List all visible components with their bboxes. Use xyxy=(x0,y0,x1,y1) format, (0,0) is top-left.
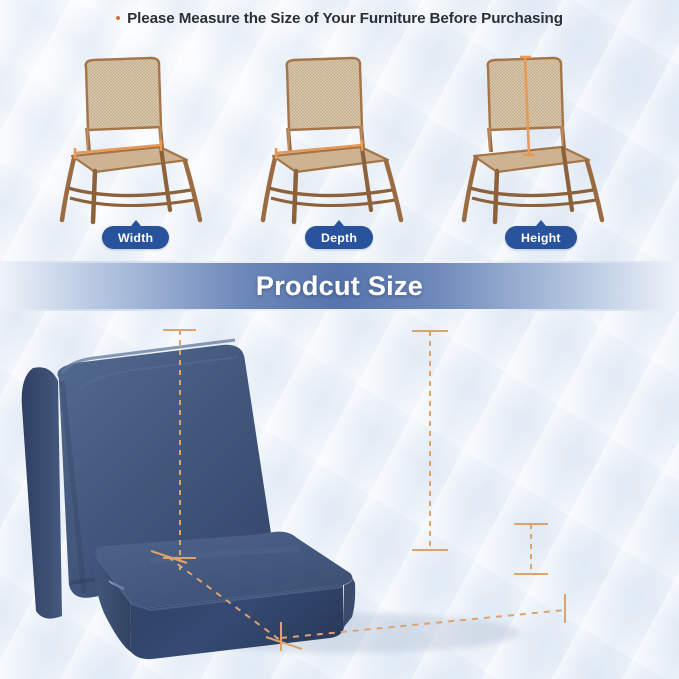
wooden-cane-chair-icon xyxy=(450,52,630,227)
pill-label-text: Depth xyxy=(321,231,357,245)
product-size-section: 27" 21" 6" 24" 24" 6 Inches xyxy=(0,311,679,679)
dimension-line-21 xyxy=(412,331,448,550)
page-title: Prodcut Size xyxy=(256,271,423,302)
pill-label-text: Height xyxy=(521,231,561,245)
label-pill-depth: Depth xyxy=(305,226,373,249)
headline-text: Please Measure the Size of Your Furnitur… xyxy=(127,10,563,27)
banner-top-edge xyxy=(0,261,679,263)
wooden-cane-chair-icon xyxy=(48,52,228,227)
page-headline: Please Measure the Size of Your Furnitur… xyxy=(0,10,679,27)
wooden-cane-chair-icon xyxy=(249,52,429,227)
label-pill-height: Height xyxy=(505,226,577,249)
measure-guide-section: Please Measure the Size of Your Furnitur… xyxy=(0,0,679,258)
chair-illustration-height xyxy=(450,52,630,227)
pointer-triangle-icon xyxy=(131,220,141,226)
pill-label-text: Width xyxy=(118,231,153,245)
section-banner: Prodcut Size xyxy=(0,261,679,311)
cushion-diagram xyxy=(0,311,679,679)
dimension-line-6 xyxy=(514,524,548,574)
label-pill-width: Width xyxy=(102,226,169,249)
chair-illustration-width xyxy=(48,52,228,227)
pointer-triangle-icon xyxy=(536,220,546,226)
dot-bullet-icon xyxy=(116,16,120,20)
pointer-triangle-icon xyxy=(334,220,344,226)
infographic-page: Please Measure the Size of Your Furnitur… xyxy=(0,0,679,679)
chair-illustration-depth xyxy=(249,52,429,227)
